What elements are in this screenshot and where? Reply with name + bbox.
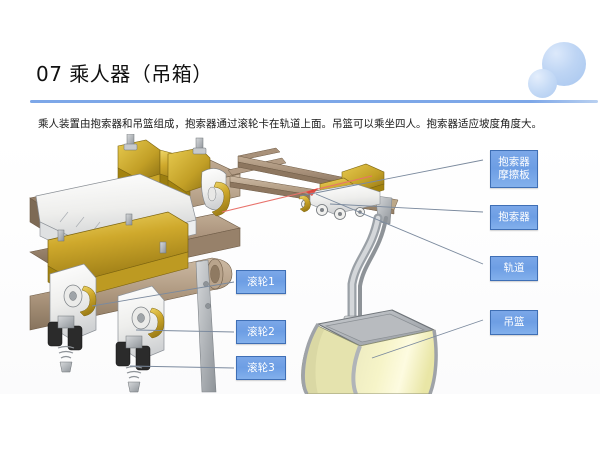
callout-track-label: 轨道: [504, 262, 525, 275]
slide-subtitle: 乘人装置由抱索器和吊篮组成，抱索器通过滚轮卡在轨道上面。吊篮可以乘坐四人。抱索器…: [38, 117, 578, 131]
callout-roller-3[interactable]: 滚轮3: [236, 356, 286, 380]
slide-root: 07 乘人器（吊箱） 乘人装置由抱索器和吊篮组成，抱索器通过滚轮卡在轨道上面。吊…: [0, 0, 600, 450]
small-blue-circle-icon: [528, 69, 557, 98]
callout-roller-2[interactable]: 滚轮2: [236, 320, 286, 344]
title-divider: [30, 100, 598, 103]
callout-gripper[interactable]: 抱索器: [490, 205, 538, 230]
callout-cabin[interactable]: 吊篮: [490, 310, 538, 335]
callout-gripper-friction-plate-line1: 抱索器: [498, 156, 530, 169]
callout-track[interactable]: 轨道: [490, 256, 538, 281]
callout-cabin-label: 吊篮: [504, 316, 525, 329]
callout-roller-2-label: 滚轮2: [247, 326, 275, 339]
callout-gripper-friction-plate[interactable]: 抱索器 摩擦板: [490, 150, 538, 188]
callout-roller-3-label: 滚轮3: [247, 362, 275, 375]
callout-roller-1[interactable]: 滚轮1: [236, 270, 286, 294]
page-title: 07 乘人器（吊箱）: [36, 58, 213, 87]
callout-roller-1-label: 滚轮1: [247, 276, 275, 289]
callout-gripper-friction-plate-line2: 摩擦板: [498, 169, 530, 182]
callout-gripper-label: 抱索器: [498, 211, 530, 224]
header-decoration: [514, 40, 594, 102]
